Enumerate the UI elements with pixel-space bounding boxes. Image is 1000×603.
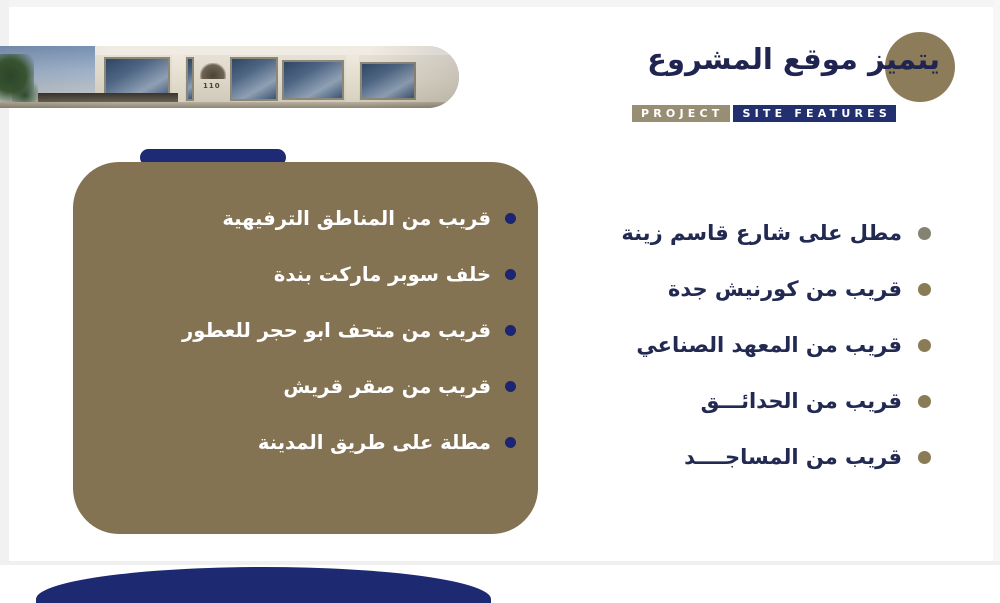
slide-canvas: 110 يتميز موقع المشروع PROJECT SITE FEAT…: [0, 0, 1000, 603]
list-item: قريب من المعهد الصناعي: [600, 317, 945, 373]
bullet-dot-icon: [918, 283, 931, 296]
slide-frame-top: [0, 0, 1000, 7]
list-item-label: مطلة على طريق المدينة: [258, 431, 491, 454]
subtitle-bar: PROJECT SITE FEATURES: [632, 105, 896, 122]
list-item: قريب من الحدائـــق: [600, 373, 945, 429]
list-item-label: قريب من المناطق الترفيهية: [222, 207, 491, 230]
list-item: قريب من متحف ابو حجر للعطور: [73, 302, 538, 358]
bullet-dot-icon: [505, 437, 516, 448]
feature-card-list: قريب من المناطق الترفيهية خلف سوبر ماركت…: [73, 190, 538, 470]
list-item: خلف سوبر ماركت بندة: [73, 246, 538, 302]
bullet-dot-icon: [918, 227, 931, 240]
list-item: قريب من كورنيش جدة: [600, 261, 945, 317]
subtitle-project-label: PROJECT: [632, 105, 730, 122]
list-item-label: خلف سوبر ماركت بندة: [274, 263, 491, 286]
subtitle-site-features-label: SITE FEATURES: [733, 105, 896, 122]
list-item-label: قريب من صقر قريش: [283, 375, 491, 398]
bullet-dot-icon: [505, 381, 516, 392]
list-item: قريب من المناطق الترفيهية: [73, 190, 538, 246]
bullet-dot-icon: [918, 339, 931, 352]
list-item-label: قريب من الحدائـــق: [701, 389, 902, 413]
list-item-label: قريب من متحف ابو حجر للعطور: [182, 319, 491, 342]
list-item-label: مطل على شارع قاسم زينة: [621, 221, 902, 245]
list-item: قريب من صقر قريش: [73, 358, 538, 414]
bullet-dot-icon: [505, 269, 516, 280]
list-item-label: قريب من المساجــــد: [684, 445, 902, 469]
list-item-label: قريب من المعهد الصناعي: [636, 333, 902, 357]
bullet-dot-icon: [505, 325, 516, 336]
photo-vignette: [0, 46, 459, 108]
list-item-label: قريب من كورنيش جدة: [668, 277, 902, 301]
slide-frame-right: [993, 0, 1000, 603]
list-item: مطلة على طريق المدينة: [73, 414, 538, 470]
site-features-list: مطل على شارع قاسم زينة قريب من كورنيش جد…: [600, 205, 945, 485]
bullet-dot-icon: [918, 451, 931, 464]
page-title: يتميز موقع المشروع: [600, 42, 940, 76]
list-item: مطل على شارع قاسم زينة: [600, 205, 945, 261]
list-item: قريب من المساجــــد: [600, 429, 945, 485]
bullet-dot-icon: [918, 395, 931, 408]
building-photo-banner: 110: [0, 46, 459, 108]
bullet-dot-icon: [505, 213, 516, 224]
